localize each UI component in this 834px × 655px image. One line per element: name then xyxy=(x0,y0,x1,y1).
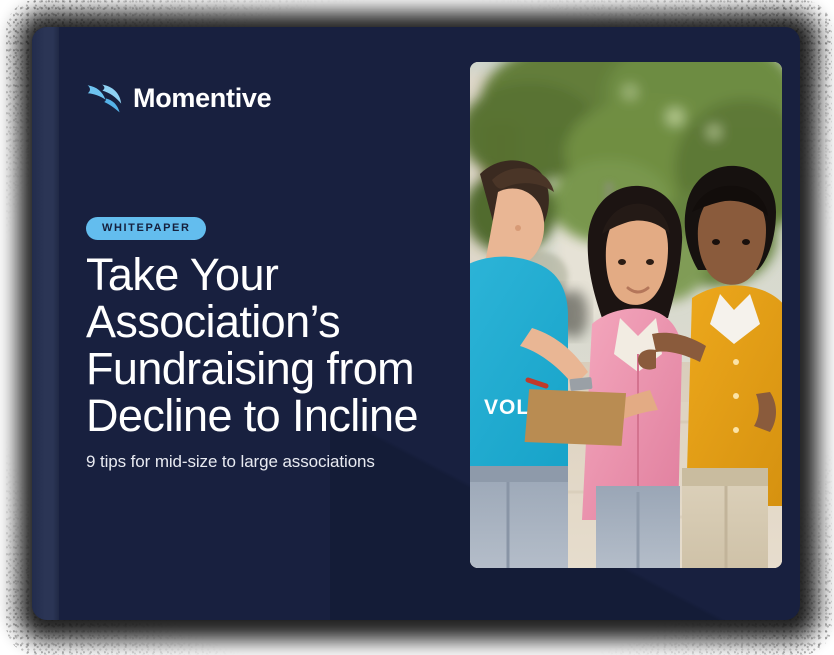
momentive-sails-logo-icon xyxy=(86,82,122,115)
page-subtitle: 9 tips for mid-size to large association… xyxy=(86,451,375,473)
page-title: Take Your Association’s Fundraising from… xyxy=(86,251,461,439)
whitepaper-cover-card[interactable]: Momentive WHITEPAPER Take Your Associati… xyxy=(32,27,800,620)
person-woman-pink xyxy=(580,186,683,568)
whitepaper-cover-page: Momentive WHITEPAPER Take Your Associati… xyxy=(0,0,834,655)
status-badge: WHITEPAPER xyxy=(86,217,206,240)
cover-text-column: Momentive WHITEPAPER Take Your Associati… xyxy=(86,27,466,620)
brand-lockup: Momentive xyxy=(86,82,271,115)
brand-name: Momentive xyxy=(133,85,271,112)
three-volunteers-with-clipboard-photo: VOLUNTEER xyxy=(470,62,782,568)
cover-spine xyxy=(32,27,59,620)
cover-photo: VOLUNTEER xyxy=(470,62,782,568)
